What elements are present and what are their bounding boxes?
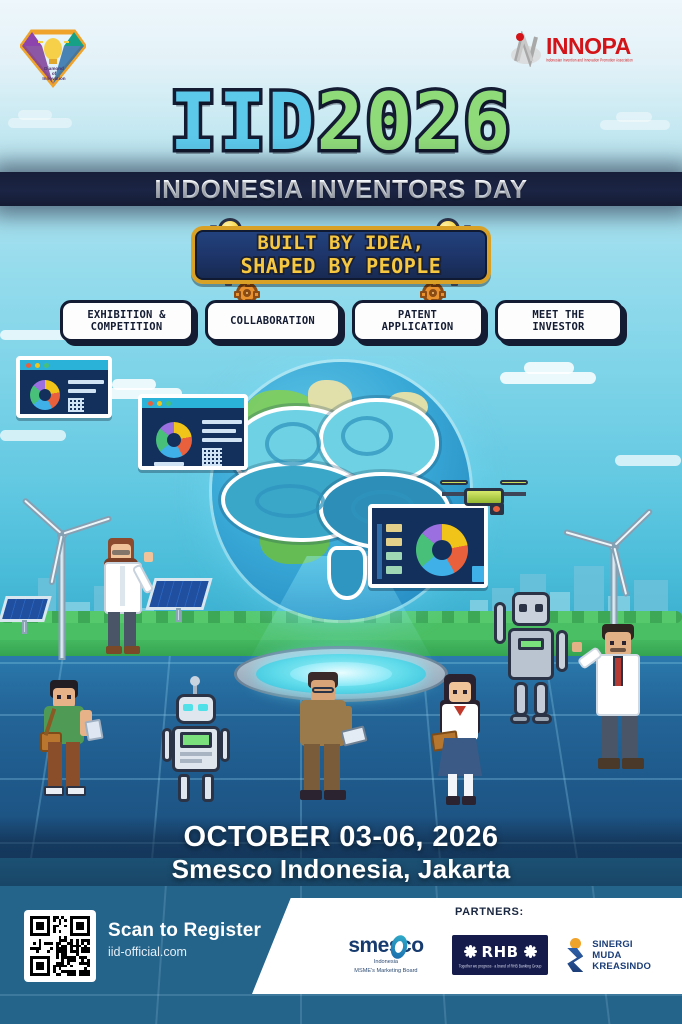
sinergi-line-3: KREASINDO: [592, 961, 651, 972]
pill-exhibition-competition[interactable]: EXHIBITION & COMPETITION: [60, 300, 194, 342]
sinergi-line-2: MUDA: [592, 950, 651, 961]
poster-root: Diamond of Innovation INNOPA Indonesian …: [0, 0, 682, 1024]
solar-panel-icon: [150, 578, 208, 618]
tagline-line-1: BUILT BY IDEA,: [257, 232, 424, 255]
partner-logo-smesco: smesco Indonesia MSME's Marketing Board: [336, 935, 436, 975]
pill-patent-application[interactable]: PATENT APPLICATION: [352, 300, 484, 342]
scan-url[interactable]: iid-official.com: [108, 945, 261, 959]
character-man-with-tablet: [292, 672, 358, 814]
scan-to-register: Scan to Register iid-official.com: [108, 920, 261, 959]
character-tall-robot: [492, 592, 570, 734]
character-male-scientist: [588, 624, 656, 786]
pill-label: COLLABORATION: [230, 315, 315, 328]
tagline-plaque: BUILT BY IDEA, SHAPED BY PEOPLE: [191, 226, 491, 284]
character-schoolgirl: [430, 674, 496, 816]
smesco-wordmark: smesco: [336, 935, 436, 957]
pill-label: PATENT APPLICATION: [382, 309, 454, 334]
partners-label: PARTNERS:: [455, 906, 524, 918]
title-part-iid: IID: [170, 78, 317, 168]
footer-grid-line: [0, 994, 682, 996]
poster-footer: Scan to Register iid-official.com PARTNE…: [0, 886, 682, 1024]
innopa-subtitle: Indonesian Invention and Innovation Prom…: [546, 59, 633, 63]
partner-logo-sinergi-muda-kreasindo: SINERGI MUDA KREASINDO: [564, 938, 666, 972]
innopa-logo: INNOPA Indonesian Invention and Innovati…: [508, 30, 658, 68]
program-pills: EXHIBITION & COMPETITION COLLABORATION P…: [0, 300, 682, 342]
event-venue: Smesco Indonesia, Jakarta: [0, 854, 682, 884]
event-date-block: OCTOBER 03-06, 2026 Smesco Indonesia, Ja…: [0, 816, 682, 886]
qr-code[interactable]: [24, 910, 96, 982]
dashboard-panel-left: [138, 394, 248, 470]
pill-meet-the-investor[interactable]: MEET THE INVESTOR: [495, 300, 623, 342]
rhb-flower-icon: [524, 945, 537, 958]
partner-logos: smesco Indonesia MSME's Marketing Board …: [336, 924, 666, 986]
event-title: IID2026: [0, 86, 682, 160]
tagline-section: BUILT BY IDEA, SHAPED BY PEOPLE: [0, 212, 682, 296]
rhb-wordmark: RHB: [482, 943, 519, 961]
scene-illustration: [0, 356, 682, 858]
title-part-year: 2026: [317, 78, 513, 168]
event-subtitle-band: INDONESIA INVENTORS DAY: [0, 172, 682, 206]
solar-panel-icon: [2, 596, 48, 630]
rhb-flower-icon: [464, 945, 477, 958]
smesco-subtitle-1: Indonesia: [336, 959, 436, 966]
sinergi-line-1: SINERGI: [592, 939, 651, 950]
rhb-tagline: Together we progress · a brand of RHB Ba…: [459, 963, 542, 968]
sinergi-wordmark: SINERGI MUDA KREASINDO: [592, 939, 651, 972]
pill-label: EXHIBITION & COMPETITION: [87, 309, 165, 334]
event-date: OCTOBER 03-06, 2026: [0, 820, 682, 854]
event-subtitle: INDONESIA INVENTORS DAY: [154, 174, 527, 205]
diamond-logo-line3: Innovation: [32, 76, 76, 81]
character-student-with-bag: [36, 680, 100, 812]
innopa-wordmark: INNOPA: [546, 35, 633, 58]
sinergi-mark-icon: [564, 938, 586, 972]
scan-title: Scan to Register: [108, 920, 261, 942]
character-small-robot: [160, 686, 230, 812]
diamond-of-innovation-logo: Diamond of Innovation: [20, 26, 86, 88]
smesco-subtitle-2: MSME's Marketing Board: [336, 968, 436, 975]
dashboard-panel-small: [16, 356, 112, 418]
innopa-mark-icon: [508, 31, 544, 67]
drone-icon: [440, 476, 528, 520]
qr-code-matrix: [30, 916, 90, 976]
tagline-line-2: SHAPED BY PEOPLE: [241, 255, 442, 278]
partner-logo-rhb: RHB Together we progress · a brand of RH…: [452, 935, 548, 975]
pill-collaboration[interactable]: COLLABORATION: [205, 300, 341, 342]
pill-label: MEET THE INVESTOR: [532, 309, 584, 334]
character-female-scientist: [92, 536, 154, 666]
